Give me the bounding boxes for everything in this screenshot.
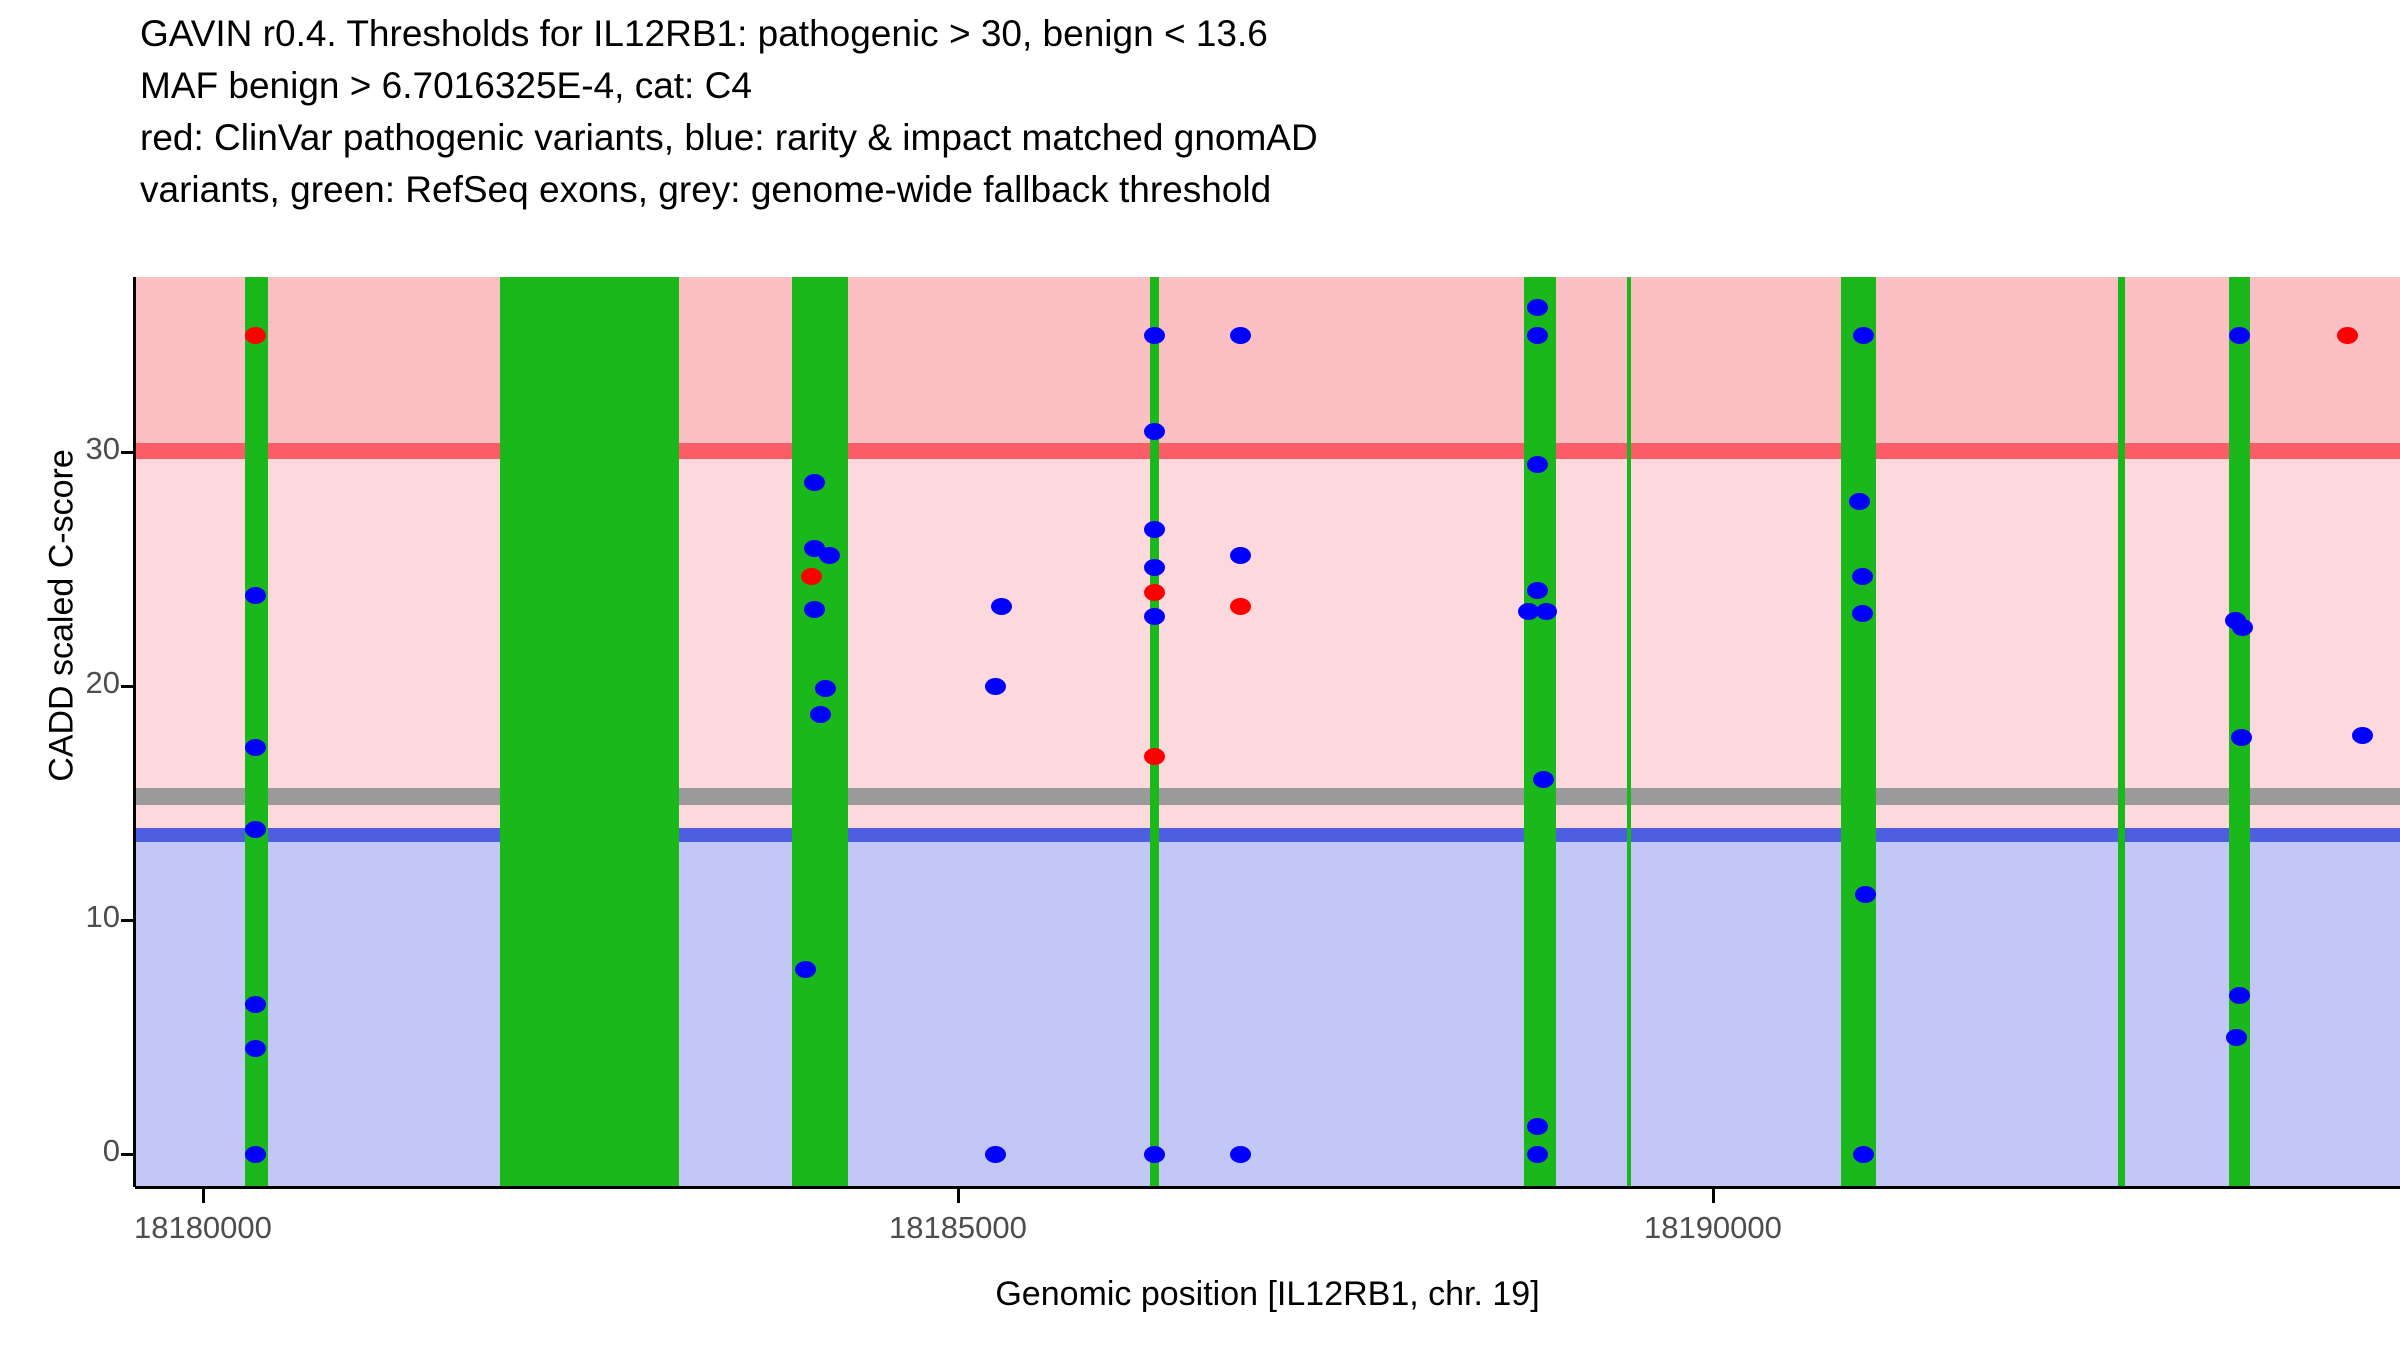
title-line-1: GAVIN r0.4. Thresholds for IL12RB1: path… (140, 8, 2340, 60)
band-benign-zone (135, 842, 2400, 1187)
gnomad-variant-point (1527, 1146, 1548, 1163)
gnomad-variant-point (1230, 547, 1251, 564)
gnomad-variant-point (804, 601, 825, 618)
title-line-2: MAF benign > 6.7016325E-4, cat: C4 (140, 60, 2340, 112)
clinvar-pathogenic-point (801, 568, 822, 585)
gnomad-variant-point (985, 678, 1006, 695)
gnomad-variant-point (1230, 327, 1251, 344)
x-axis-line (135, 1186, 2400, 1189)
clinvar-pathogenic-point (1144, 584, 1165, 601)
refseq-exon-4 (1150, 277, 1159, 1187)
refseq-exon-2 (500, 277, 678, 1187)
gnomad-variant-point (1527, 456, 1548, 473)
band-fallback-threshold-line (135, 788, 2400, 804)
band-uncertain-zone (135, 459, 2400, 836)
x-tick-label-18185000: 18185000 (828, 1210, 1088, 1246)
gnomad-variant-point (1527, 1118, 1548, 1135)
gnomad-variant-point (245, 1146, 266, 1163)
gnomad-variant-point (819, 547, 840, 564)
gnomad-variant-point (2226, 1029, 2247, 1046)
gnomad-variant-point (1852, 568, 1873, 585)
y-axis-title: CADD scaled C-score (43, 216, 82, 1016)
x-tick-18185000 (957, 1189, 960, 1203)
gnomad-variant-point (1849, 493, 1870, 510)
band-pathogenic-threshold-line (135, 443, 2400, 459)
y-tick-0 (121, 1153, 135, 1156)
gnomad-variant-point (1230, 1146, 1251, 1163)
title-line-3: red: ClinVar pathogenic variants, blue: … (140, 112, 2340, 164)
band-benign-threshold-line (135, 828, 2400, 842)
y-tick-label-0: 0 (0, 1133, 120, 1169)
plot-panel (135, 277, 2400, 1187)
plot-root: GAVIN r0.4. Thresholds for IL12RB1: path… (0, 0, 2400, 1350)
refseq-exon-7 (1841, 277, 1876, 1187)
title-line-4: variants, green: RefSeq exons, grey: gen… (140, 164, 2340, 216)
y-axis-line (133, 277, 136, 1187)
refseq-exon-6 (1627, 277, 1632, 1187)
plot-panel-clip (135, 277, 2400, 1187)
y-tick-10 (121, 919, 135, 922)
refseq-exon-8 (2118, 277, 2126, 1187)
clinvar-pathogenic-point (2337, 327, 2358, 344)
x-tick-18190000 (1712, 1189, 1715, 1203)
x-axis-title: Genomic position [IL12RB1, chr. 19] (135, 1275, 2400, 1314)
x-tick-label-18180000: 18180000 (73, 1210, 333, 1246)
gnomad-variant-point (245, 739, 266, 756)
band-pathogenic-zone (135, 277, 2400, 452)
gnomad-variant-point (795, 961, 816, 978)
gnomad-variant-point (1853, 1146, 1874, 1163)
gnomad-variant-point (1144, 327, 1165, 344)
clinvar-pathogenic-point (1144, 748, 1165, 765)
gnomad-variant-point (1144, 559, 1165, 576)
x-tick-18180000 (202, 1189, 205, 1203)
gnomad-variant-point (1855, 886, 1876, 903)
gnomad-variant-point (810, 706, 831, 723)
gnomad-variant-point (2229, 987, 2250, 1004)
gnomad-variant-point (1144, 521, 1165, 538)
gnomad-variant-point (985, 1146, 1006, 1163)
gnomad-variant-point (245, 587, 266, 604)
gnomad-variant-point (245, 821, 266, 838)
gnomad-variant-point (815, 680, 836, 697)
gnomad-variant-point (1144, 423, 1165, 440)
gnomad-variant-point (1144, 608, 1165, 625)
refseq-exon-5 (1524, 277, 1556, 1187)
gnomad-variant-point (1144, 1146, 1165, 1163)
y-tick-20 (121, 685, 135, 688)
plot-title: GAVIN r0.4. Thresholds for IL12RB1: path… (140, 8, 2340, 216)
refseq-exon-3 (792, 277, 848, 1187)
x-tick-label-18190000: 18190000 (1583, 1210, 1843, 1246)
y-tick-30 (121, 451, 135, 454)
gnomad-variant-point (2352, 727, 2373, 744)
